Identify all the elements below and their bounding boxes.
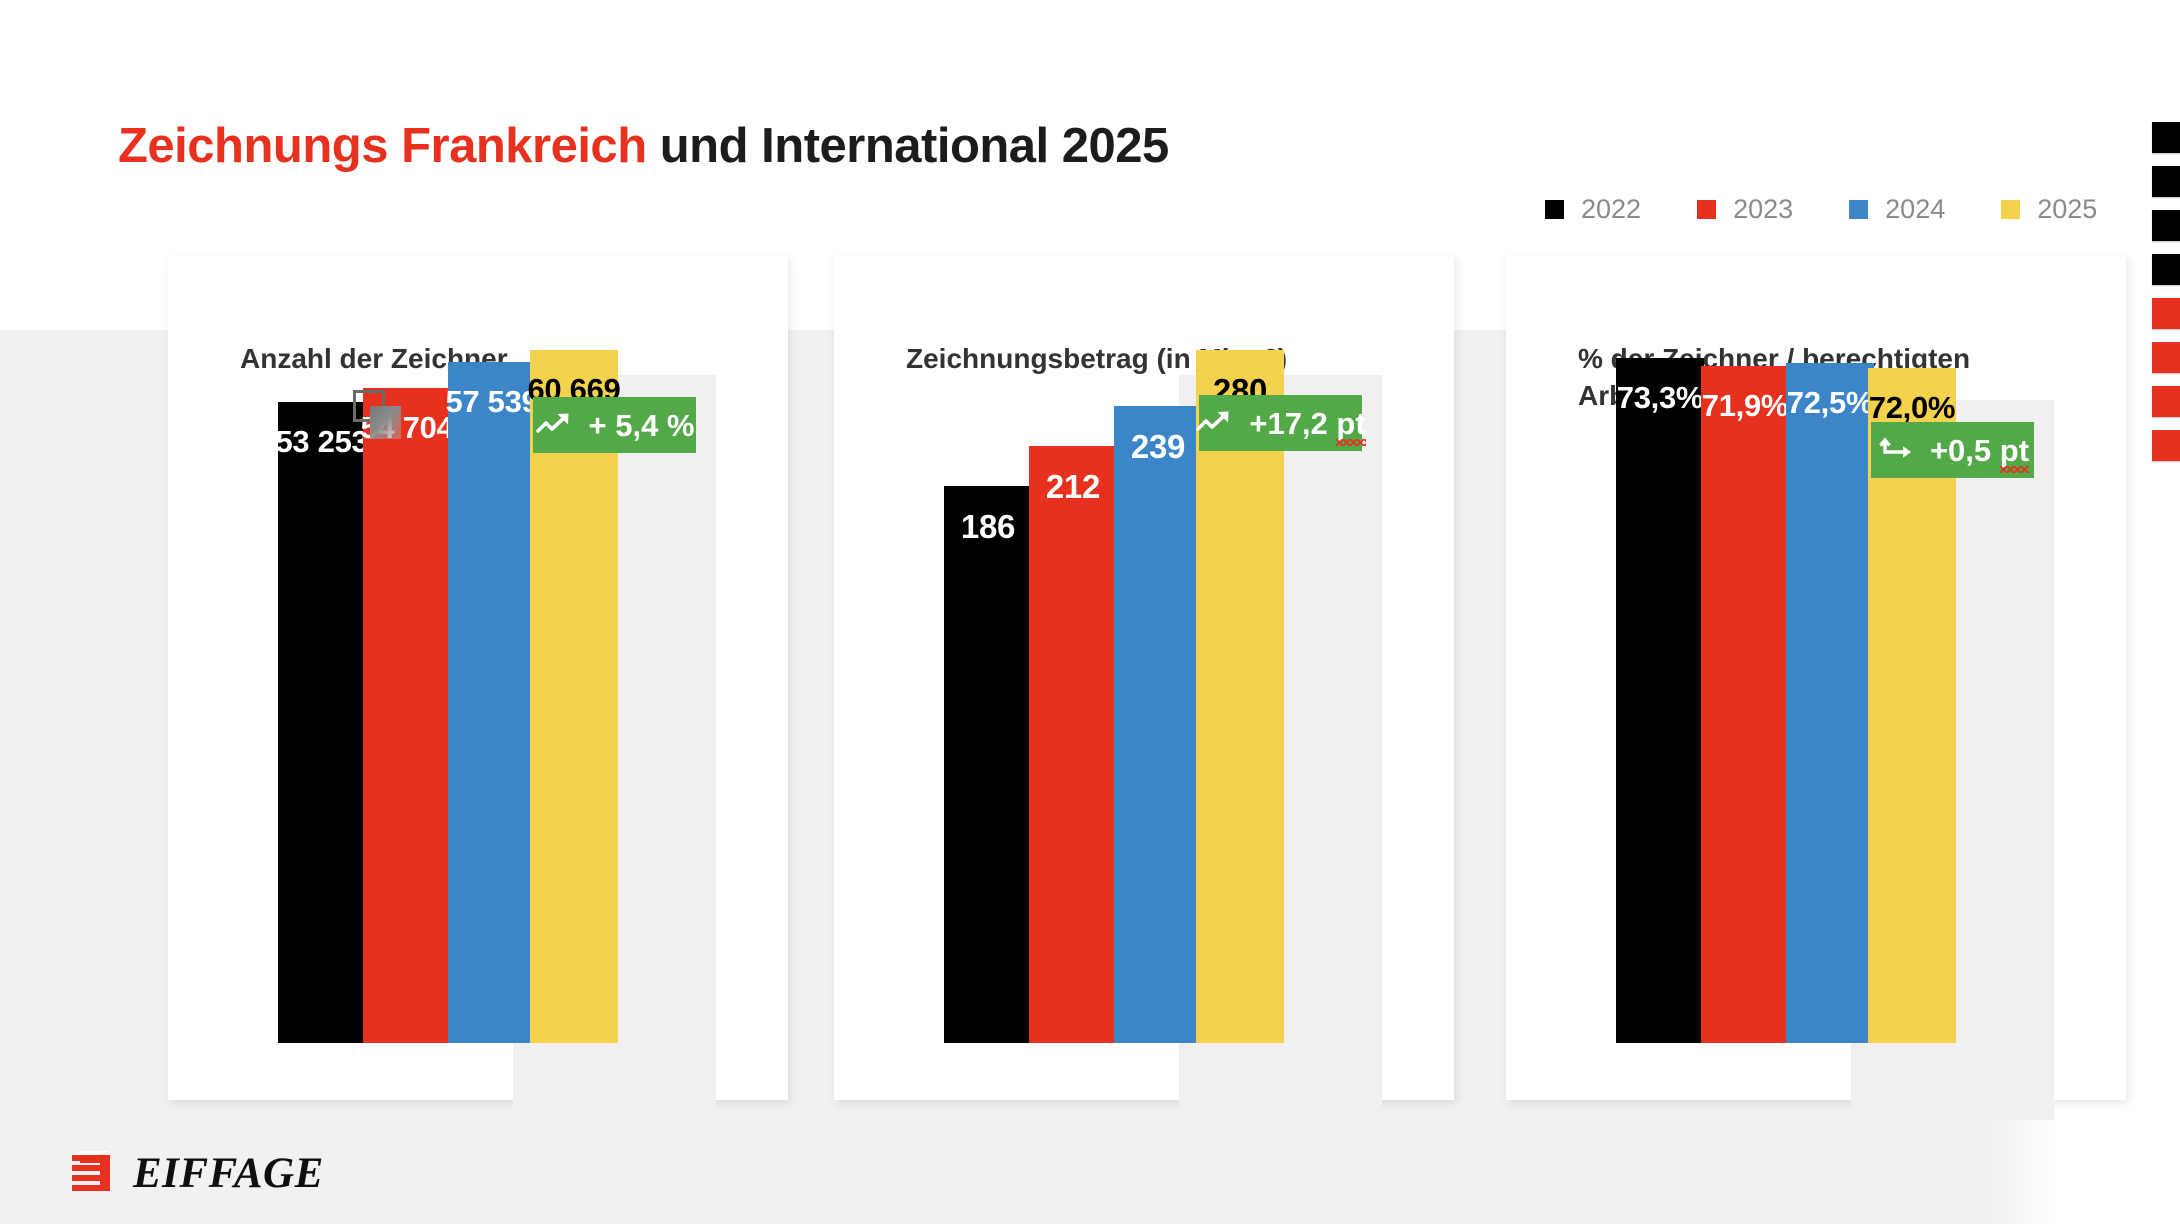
legend-swatch-2025 xyxy=(2001,200,2020,219)
legend-label: 2024 xyxy=(1885,196,1945,223)
bar-2022[interactable] xyxy=(944,486,1032,1043)
bar-2024[interactable] xyxy=(1114,406,1202,1043)
bar-2023[interactable] xyxy=(1701,366,1789,1043)
color-swatch-rail[interactable] xyxy=(2152,122,2180,474)
cursor-filled-square xyxy=(370,406,401,439)
eiffage-logo-wordmark: EIFFAGE xyxy=(133,1152,324,1195)
bar-2024[interactable] xyxy=(1786,363,1874,1043)
delta-unit-misspelled: pt xyxy=(2000,435,2029,466)
copy-duplicate-cursor-icon xyxy=(348,384,410,446)
delta-value: +17,2 xyxy=(1249,406,1336,441)
page-title-highlight: Zeichnungs Frankreich xyxy=(118,119,647,173)
delta-badge[interactable]: +17,2 pt xyxy=(1199,395,1362,451)
legend-item-2023: 2023 xyxy=(1697,196,1793,223)
trend-up-arrow-icon xyxy=(1195,406,1237,440)
color-swatch[interactable] xyxy=(2152,254,2180,285)
delta-badge[interactable]: +0,5 pt xyxy=(1871,422,2034,478)
bar-2025[interactable] xyxy=(530,350,618,1043)
delta-badge[interactable]: + 5,4 % xyxy=(533,397,696,453)
legend-item-2022: 2022 xyxy=(1545,196,1641,223)
chart-card-anzahl-der-zeichner[interactable]: Anzahl der Zeichner 53 25354 70457 53960… xyxy=(168,255,788,1100)
trend-flat-arrow-icon xyxy=(1876,433,1918,467)
delta-badge-text: +17,2 pt xyxy=(1249,408,1365,439)
legend-label: 2025 xyxy=(2037,196,2097,223)
bar-2023[interactable] xyxy=(1029,446,1117,1043)
page-title-rest: und International 2025 xyxy=(647,119,1169,173)
trend-up-arrow-icon xyxy=(535,408,577,442)
bar-2024[interactable] xyxy=(448,362,536,1043)
slide-canvas: Zeichnungs Frankreich und International … xyxy=(0,0,2180,1224)
color-swatch[interactable] xyxy=(2152,298,2180,329)
color-swatch[interactable] xyxy=(2152,430,2180,461)
legend-swatch-2022 xyxy=(1545,200,1564,219)
page-title: Zeichnungs Frankreich und International … xyxy=(118,118,1169,174)
bar-2025[interactable] xyxy=(1196,350,1284,1043)
delta-badge-text: +0,5 pt xyxy=(1930,435,2029,466)
chart-legend: 2022202320242025 xyxy=(1545,196,2097,223)
legend-label: 2022 xyxy=(1581,196,1641,223)
chart-card-zeichnungsbetrag[interactable]: Zeichnungsbetrag (in Mio. €) 18621223928… xyxy=(834,255,1454,1100)
color-swatch[interactable] xyxy=(2152,122,2180,153)
bar-2022[interactable] xyxy=(278,402,366,1043)
delta-unit-misspelled: pt xyxy=(1336,408,1365,439)
color-swatch[interactable] xyxy=(2152,166,2180,197)
legend-swatch-2024 xyxy=(1849,200,1868,219)
bar-value-label-2025: 72,0% xyxy=(1846,392,1978,423)
eiffage-logo: EIFFAGE xyxy=(70,1148,324,1198)
bar-chart-plot-area: 73,3%71,9%72,5%72,0%+0,5 pt xyxy=(1506,255,2126,1100)
legend-item-2025: 2025 xyxy=(2001,196,2097,223)
legend-label: 2023 xyxy=(1733,196,1793,223)
bar-chart-plot-area: 186212239280+17,2 pt xyxy=(834,255,1454,1100)
bar-2022[interactable] xyxy=(1616,358,1704,1043)
delta-value: +0,5 xyxy=(1930,433,2000,468)
color-swatch[interactable] xyxy=(2152,210,2180,241)
chart-card-prozent-der-zeichner[interactable]: % der Zeichner / berechtigten Arbeitnehm… xyxy=(1506,255,2126,1100)
color-swatch[interactable] xyxy=(2152,386,2180,417)
bar-2023[interactable] xyxy=(363,388,451,1043)
bar-chart-plot-area: 53 25354 70457 53960 669+ 5,4 % xyxy=(168,255,788,1100)
delta-badge-text: + 5,4 % xyxy=(589,410,695,441)
legend-item-2024: 2024 xyxy=(1849,196,1945,223)
eiffage-logo-mark-icon xyxy=(70,1151,116,1195)
color-swatch[interactable] xyxy=(2152,342,2180,373)
legend-swatch-2023 xyxy=(1697,200,1716,219)
